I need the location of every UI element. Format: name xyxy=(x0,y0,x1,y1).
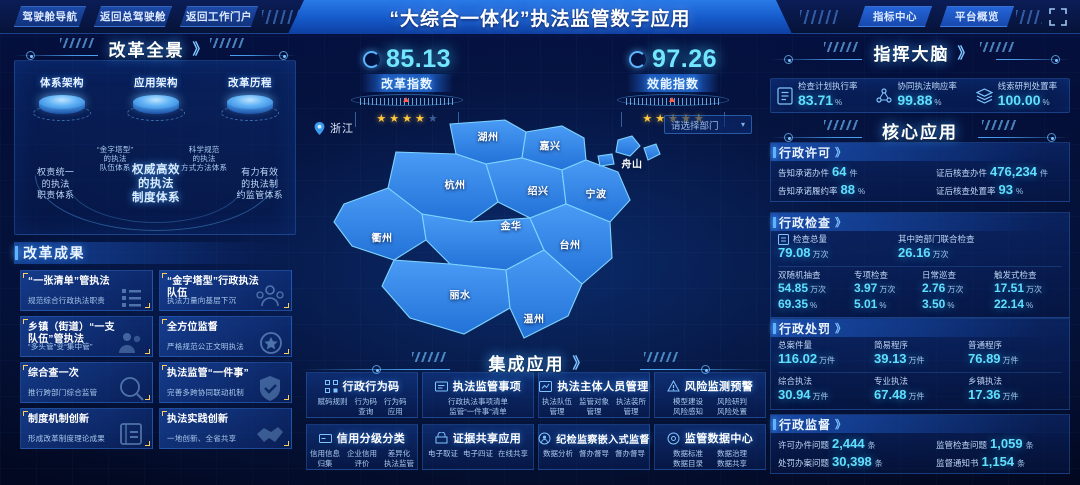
metric-total-cases: 总案件量 116.02万件 xyxy=(778,340,874,369)
app-card-title: 执法主体人员管理 xyxy=(557,378,648,394)
result-card-pyramid-team[interactable]: “金字塔型”行政执法队伍 执法力量向基层下沉 xyxy=(159,270,292,311)
title-rule-right xyxy=(978,137,1070,138)
check-box-icon xyxy=(778,234,789,245)
app-card-head: 行政行为码 xyxy=(307,378,417,394)
app-sub: 督办督导 xyxy=(579,449,609,459)
reform-results-label: 改革成果 xyxy=(23,243,85,263)
architecture-podium-row: 体系架构 应用架构 改革历程 xyxy=(15,75,297,137)
metric-value: 83.71 xyxy=(798,92,833,108)
gauge-icon xyxy=(363,51,380,68)
block-administrative-supervision: 行政监督 》 许可办件问题 2,444 条 监管检查问题 1,059 条 处罚办… xyxy=(770,414,1070,474)
podium-label: 应用架构 xyxy=(114,75,198,90)
podium-disc-icon xyxy=(221,95,279,119)
metric-label: 协同执法响应率 xyxy=(897,81,957,92)
reform-panorama-label: 改革全景 xyxy=(102,36,190,61)
app-card-behavior-code[interactable]: 行政行为码 赋码规则 行为码查询 行为码应用 xyxy=(306,372,418,418)
app-sub: 赋码规则 xyxy=(318,397,348,416)
title-hatch-left xyxy=(60,38,94,48)
cockpit-nav-button[interactable]: 驾驶舱导航 xyxy=(14,6,86,27)
title-dot-left xyxy=(372,365,381,374)
metric-value: 26.16万次 xyxy=(898,245,975,263)
block-arrow[interactable]: 》 xyxy=(835,320,847,336)
doc-list-icon xyxy=(435,380,448,393)
kv-row: 许可办件问题 2,444 条 监管检查问题 1,059 条 xyxy=(778,436,1062,451)
block-title: 行政许可 xyxy=(779,144,831,161)
kv-license-issues: 许可办件问题 2,444 条 xyxy=(778,436,936,451)
list-icon xyxy=(114,278,148,311)
evidence-icon xyxy=(435,432,448,445)
app-card-title: 执法监管事项 xyxy=(453,378,521,394)
city-label-huzhou[interactable]: 湖州 xyxy=(478,129,499,144)
command-brain-metrics: 检查计划执行率 83.71% 协同执法响应率 99.88% xyxy=(770,78,1070,113)
kv-supervision-notices: 监督通知书 1,154 条 xyxy=(936,454,1025,469)
credit-icon xyxy=(319,432,332,445)
block-arrow[interactable]: 》 xyxy=(835,416,847,432)
result-card-sub: 形成改革制度理论成果 xyxy=(28,434,122,443)
app-sub: 在线共享 xyxy=(498,449,528,459)
block-title: 行政监督 xyxy=(779,416,831,433)
command-brain-label: 指挥大脑 xyxy=(867,40,955,65)
city-label-jinhua[interactable]: 金华 xyxy=(501,218,522,233)
app-card-subs: 数据分析 督办督导 督办督导 xyxy=(539,449,649,459)
metric-unit: % xyxy=(1042,98,1049,107)
podium-system-architecture[interactable]: 体系架构 xyxy=(20,75,104,119)
indicator-center-button[interactable]: 指标中心 xyxy=(858,6,932,27)
block-header[interactable]: 行政许可 》 xyxy=(771,143,1069,161)
result-card-township-team[interactable]: 乡镇（街道）“一支队伍”管执法 “多头管”变“集中管” xyxy=(20,316,153,357)
app-card-title: 监管数据中心 xyxy=(685,430,753,446)
app-card-subs: 信用信息归集 企业信用评价 差异化执法监管 xyxy=(307,449,417,468)
block-body: 许可办件问题 2,444 条 监管检查问题 1,059 条 处罚办案问题 30,… xyxy=(771,433,1069,473)
app-card-discipline-supervision[interactable]: 纪检监察嵌入式监督 数据分析 督办督导 督办督导 xyxy=(538,424,650,470)
hologram-core-label: 权威高效 的执法 制度体系 xyxy=(132,163,180,205)
index-base-decor xyxy=(608,93,738,109)
app-card-head: 信用分级分类 xyxy=(307,430,417,446)
metric-unit: % xyxy=(835,98,842,107)
app-card-evidence-sharing[interactable]: 证据共享应用 电子取证 电子四证 在线共享 xyxy=(422,424,534,470)
app-sub: 行为码查询 xyxy=(355,397,378,416)
team-icon xyxy=(114,324,148,357)
app-sub: 行政执法事项清单 xyxy=(427,397,529,407)
kv-post-verification-disposal-rate: 证后核查处置率 93 % xyxy=(936,182,1023,197)
block-administrative-penalty: 行政处罚 》 总案件量 116.02万件 简易程序 39.13万件 普通程序 7… xyxy=(770,318,1070,410)
metric-text: 线索研判处置率 100.00% xyxy=(998,81,1058,110)
inspection-grid-row: 双随机抽查 54.85万次 69.35% 专项检查 3.97万次 5.01% 日… xyxy=(778,270,1062,313)
app-sub: 执法装所管理 xyxy=(616,397,646,416)
metric-random-inspection: 双随机抽查 54.85万次 69.35% xyxy=(778,270,854,313)
layers-icon xyxy=(976,88,993,104)
block-title: 行政检查 xyxy=(779,214,831,231)
integrated-apps-arrow[interactable]: 》 xyxy=(572,352,587,373)
core-apps-title: 核心应用 xyxy=(770,116,1070,144)
penalty-row-2: 综合执法 30.94万件 专业执法 67.48万件 乡镇执法 17.36万件 xyxy=(778,376,1062,405)
metric-triggered-inspection: 触发式检查 17.51万次 22.14% xyxy=(994,270,1042,313)
network-icon xyxy=(876,88,892,104)
kv-post-verification-cases: 证后核查办件 476,234 件 xyxy=(936,164,1048,179)
result-card-title: 综合查一次 xyxy=(28,368,122,380)
app-sub: 模型建设风险感知 xyxy=(673,397,703,416)
result-card-sub: “多头管”变“集中管” xyxy=(28,342,122,351)
app-card-title: 纪检监察嵌入式监督 xyxy=(556,431,650,446)
reform-panorama-title: 改革全景 》 xyxy=(14,34,296,62)
hologram-label-duty: 权责统一 的执法 职责体系 xyxy=(37,167,74,202)
title-hatch-left xyxy=(824,42,858,52)
result-card-sub: 一地创新、全省共享 xyxy=(167,434,261,443)
metric-text: 检查计划执行率 83.71% xyxy=(798,81,858,110)
shield-check-icon xyxy=(253,370,287,403)
gauge-icon xyxy=(629,51,646,68)
kv-inspection-issues: 监管检查问题 1,059 条 xyxy=(936,436,1034,451)
podium-label: 改革历程 xyxy=(208,75,292,90)
city-label-wenzhou[interactable]: 温州 xyxy=(524,311,545,326)
warning-icon xyxy=(667,380,680,393)
efficiency-index-label: 效能指数 xyxy=(627,74,719,92)
app-card-risk-warning[interactable]: 风险监测预警 模型建设风险感知 风险研判风险处置 xyxy=(654,372,766,418)
app-card-credit-classification[interactable]: 信用分级分类 信用信息归集 企业信用评价 差异化执法监管 xyxy=(306,424,418,470)
city-label-jiaxing[interactable]: 嘉兴 xyxy=(540,138,561,153)
metric-inspection-plan-rate: 检查计划执行率 83.71% xyxy=(771,81,870,110)
star-badge-icon xyxy=(253,324,287,357)
metric-simple-procedure: 简易程序 39.13万件 xyxy=(874,340,968,369)
metric-value: 79.08万次 xyxy=(778,245,898,263)
result-card-title: “一张清单”管执法 xyxy=(28,276,122,288)
metric-label: 检查计划执行率 xyxy=(798,81,858,92)
title-dot-right xyxy=(701,365,710,374)
app-sub: 监管“一件事”清单 xyxy=(427,407,529,417)
title-dot-right xyxy=(1051,55,1060,64)
block-body: 总案件量 116.02万件 简易程序 39.13万件 普通程序 76.89万件 … xyxy=(771,337,1069,409)
metric-general-procedure: 普通程序 76.89万件 xyxy=(968,340,1019,369)
app-sub: 信用信息归集 xyxy=(310,449,340,468)
app-card-subs: 电子取证 电子四证 在线共享 xyxy=(423,449,533,459)
block-administrative-license: 行政许可 》 告知承诺办件 64 件 证后核查办件 476,234 件 告知承诺… xyxy=(770,142,1070,202)
index-base-decor xyxy=(342,93,472,109)
kv-row: 告知承诺办件 64 件 证后核查办件 476,234 件 xyxy=(778,164,1062,179)
app-sub: 行为码应用 xyxy=(384,397,407,416)
podium-reform-history[interactable]: 改革历程 xyxy=(208,75,292,119)
kv-penalty-issues: 处罚办案问题 30,398 条 xyxy=(778,454,936,469)
result-card-sub: 严格规范公正文明执法 xyxy=(167,342,261,351)
block-title: 行政处罚 xyxy=(779,320,831,337)
metric-value: 99.88 xyxy=(897,92,932,108)
block-header[interactable]: 行政监督 》 xyxy=(771,415,1069,433)
document-icon xyxy=(777,87,793,105)
app-card-subs: 行政执法事项清单 监管“一件事”清单 xyxy=(423,397,533,416)
inspection-top-row: 检查总量 79.08万次 其中跨部门联合检查 26.16万次 xyxy=(778,234,1062,263)
metric-collaborative-response-rate: 协同执法响应率 99.88% xyxy=(870,81,969,110)
chart-box-icon xyxy=(539,380,552,393)
podium-application-architecture[interactable]: 应用架构 xyxy=(114,75,198,119)
result-card-sub: 推行跨部门综合监管 xyxy=(28,388,122,397)
integrated-apps-label: 集成应用 xyxy=(482,350,570,375)
integrated-apps-title: 集成应用 》 xyxy=(300,348,770,376)
title-hatch-right xyxy=(644,352,678,362)
hologram-label-restraint: 有力有效 的执法制 约监管体系 xyxy=(236,167,283,202)
block-body: 告知承诺办件 64 件 证后核查办件 476,234 件 告知承诺履约率 88 … xyxy=(771,161,1069,201)
app-card-head: 风险监测预警 xyxy=(655,378,765,394)
app-card-supervision-matters[interactable]: 执法监管事项 行政执法事项清单 监管“一件事”清单 xyxy=(422,372,534,418)
block-arrow[interactable]: 》 xyxy=(835,214,847,230)
page-title: “大综合一体化”执法监管数字应用 xyxy=(288,0,792,34)
city-label-shaoxing[interactable]: 绍兴 xyxy=(528,183,549,198)
title-dot-left xyxy=(26,51,35,60)
app-sub: 企业信用评价 xyxy=(347,449,377,468)
command-brain-title: 指挥大脑 》 xyxy=(770,38,1070,66)
kv-commitment-fulfillment-rate: 告知承诺履约率 88 % xyxy=(778,182,936,197)
metric-special-inspection: 专项检查 3.97万次 5.01% xyxy=(854,270,922,313)
result-card-title: 执法监管“一件事” xyxy=(167,368,261,380)
block-administrative-inspection: 行政检查 》 检查总量 xyxy=(770,212,1070,318)
penalty-row-1: 总案件量 116.02万件 简易程序 39.13万件 普通程序 76.89万件 xyxy=(778,340,1062,369)
kv-notify-commitment-cases: 告知承诺办件 64 件 xyxy=(778,164,936,179)
supervise-icon xyxy=(538,432,551,445)
metric-professional-enforcement: 专业执法 67.48万件 xyxy=(874,376,968,405)
title-hatch-left xyxy=(412,352,446,362)
app-sub: 数据治理数据共享 xyxy=(717,449,747,468)
city-label-quzhou[interactable]: 衢州 xyxy=(372,230,393,245)
database-icon xyxy=(667,432,680,445)
block-arrow[interactable]: 》 xyxy=(835,144,847,160)
metric-label: 线索研判处置率 xyxy=(998,81,1058,92)
app-card-head: 执法主体人员管理 xyxy=(539,378,649,394)
metric-text: 协同执法响应率 99.88% xyxy=(897,81,957,110)
podium-disc-icon xyxy=(33,95,91,119)
back-work-portal-button[interactable]: 返回工作门户 xyxy=(180,6,258,27)
hologram-label-pyramid: “金字塔型” 的执法 队伍体系 xyxy=(97,145,133,172)
reform-results-header: 改革成果 xyxy=(14,242,296,264)
reform-index-label: 改革指数 xyxy=(361,74,453,92)
app-card-head: 证据共享应用 xyxy=(423,430,533,446)
app-card-subs: 模型建设风险感知 风险研判风险处置 xyxy=(655,397,765,416)
hologram-label-standard: 科学规范 的执法 方式方法体系 xyxy=(181,145,227,172)
city-label-hangzhou[interactable]: 杭州 xyxy=(445,177,466,192)
result-card-one-matter[interactable]: 执法监管“一件事” 完善多跨协同联动机制 xyxy=(159,362,292,403)
header-bar: 驾驶舱导航 返回总驾驶舱 返回工作门户 “大综合一体化”执法监管数字应用 指标中… xyxy=(0,0,1080,34)
app-card-head: 执法监管事项 xyxy=(423,378,533,394)
app-card-data-center[interactable]: 监管数据中心 数据标准数据目录 数据治理数据共享 xyxy=(654,424,766,470)
platform-overview-button[interactable]: 平台概览 xyxy=(940,6,1014,27)
title-dot-right xyxy=(1047,133,1056,142)
title-hatch-right xyxy=(982,120,1016,130)
handshake-icon xyxy=(253,416,287,449)
app-sub: 监管对象管理 xyxy=(579,397,609,416)
efficiency-index-value: 97.26 xyxy=(652,45,717,74)
zhejiang-map[interactable]: 湖州 嘉兴 舟山 杭州 绍兴 宁波 金华 衢州 台州 丽水 温州 xyxy=(300,118,770,346)
block-body: 检查总量 79.08万次 其中跨部门联合检查 26.16万次 双随机抽查 xyxy=(771,231,1069,317)
magnifier-icon xyxy=(114,370,148,403)
people-icon xyxy=(253,278,287,311)
reform-hologram-diagram: “金字塔型” 的执法 队伍体系 科学规范 的执法 方式方法体系 权责统一 的执法… xyxy=(15,137,297,235)
app-sub: 电子四证 xyxy=(463,449,493,459)
reform-panorama-panel: 体系架构 应用架构 改革历程 “金字塔型” xyxy=(14,60,296,235)
block-header[interactable]: 行政检查 》 xyxy=(771,213,1069,231)
podium-label: 体系架构 xyxy=(20,75,104,90)
reform-index-block: 85.13 改革指数 ★ ★ ★ ★ ★ xyxy=(332,44,482,127)
metric-routine-patrol: 日常巡查 2.76万次 3.50% xyxy=(922,270,994,313)
city-label-zhoushan[interactable]: 舟山 xyxy=(622,156,643,171)
command-brain-arrow[interactable]: 》 xyxy=(957,42,972,63)
podium-disc-icon xyxy=(127,95,185,119)
title-hatch-right xyxy=(210,38,244,48)
book-icon xyxy=(114,416,148,449)
result-card-sub: 执法力量向基层下沉 xyxy=(167,296,261,305)
metric-total-inspections: 检查总量 79.08万次 xyxy=(778,234,898,263)
app-sub: 数据分析 xyxy=(543,449,573,459)
result-card-title: 制度机制创新 xyxy=(28,414,122,426)
result-card-practice-innovation[interactable]: 执法实践创新 一地创新、全省共享 xyxy=(159,408,292,449)
app-card-title: 信用分级分类 xyxy=(337,430,405,446)
title-hatch-right xyxy=(980,42,1014,52)
app-card-title: 证据共享应用 xyxy=(453,430,521,446)
city-label-taizhou[interactable]: 台州 xyxy=(560,237,581,252)
metric-value: 100.00 xyxy=(998,92,1041,108)
title-dot-left xyxy=(784,133,793,142)
title-dot-left xyxy=(784,55,793,64)
reform-panorama-arrow[interactable]: 》 xyxy=(192,38,207,59)
metric-clue-disposal-rate: 线索研判处置率 100.00% xyxy=(970,81,1069,110)
app-card-title: 风险监测预警 xyxy=(685,378,753,394)
core-apps-label: 核心应用 xyxy=(876,118,964,143)
title-dot-right xyxy=(279,51,288,60)
app-card-subs: 赋码规则 行为码查询 行为码应用 xyxy=(307,397,417,416)
metric-joint-inspections: 其中跨部门联合检查 26.16万次 xyxy=(898,234,975,263)
title-hatch-left xyxy=(824,120,858,130)
kv-row: 处罚办案问题 30,398 条 监督通知书 1,154 条 xyxy=(778,454,1062,469)
app-sub: 电子取证 xyxy=(428,449,458,459)
app-sub: 督办督导 xyxy=(615,449,645,459)
metric-unit: % xyxy=(934,98,941,107)
reform-index-value-row: 85.13 xyxy=(332,44,482,74)
result-card-title: 全方位监督 xyxy=(167,322,261,334)
app-card-head: 纪检监察嵌入式监督 xyxy=(539,430,649,446)
back-main-cockpit-button[interactable]: 返回总驾驶舱 xyxy=(94,6,172,27)
city-label-ningbo[interactable]: 宁波 xyxy=(586,186,607,201)
metric-township-enforcement: 乡镇执法 17.36万件 xyxy=(968,376,1019,405)
result-card-title: 执法实践创新 xyxy=(167,414,261,426)
result-card-full-supervision[interactable]: 全方位监督 严格规范公正文明执法 xyxy=(159,316,292,357)
result-card-sub: 完善多跨协同联动机制 xyxy=(167,388,261,397)
reform-index-value: 85.13 xyxy=(386,45,451,74)
kv-row: 告知承诺履约率 88 % 证后核查处置率 93 % xyxy=(778,182,1062,197)
result-card-system-innovation[interactable]: 制度机制创新 形成改革制度理论成果 xyxy=(20,408,153,449)
app-sub: 执法队伍管理 xyxy=(542,397,572,416)
efficiency-index-value-row: 97.26 xyxy=(598,44,748,74)
result-card-sub: 规范综合行政执法职责 xyxy=(28,296,122,305)
block-header[interactable]: 行政处罚 》 xyxy=(771,319,1069,337)
qr-code-icon xyxy=(325,380,338,393)
metric-comprehensive-enforcement: 综合执法 30.94万件 xyxy=(778,376,874,405)
app-sub: 数据标准数据目录 xyxy=(673,449,703,468)
fullscreen-icon[interactable] xyxy=(1048,7,1068,27)
app-sub: 风险研判风险处置 xyxy=(717,397,747,416)
result-card-one-list[interactable]: “一张清单”管执法 规范综合行政执法职责 xyxy=(20,270,153,311)
city-label-lishui[interactable]: 丽水 xyxy=(450,287,471,302)
dashboard-root: 驾驶舱导航 返回总驾驶舱 返回工作门户 “大综合一体化”执法监管数字应用 指标中… xyxy=(0,0,1080,485)
app-card-subs: 执法队伍管理 监管对象管理 执法装所管理 xyxy=(539,397,649,416)
app-sub: 差异化执法监管 xyxy=(384,449,414,468)
app-card-head: 监管数据中心 xyxy=(655,430,765,446)
app-card-subs: 数据标准数据目录 数据治理数据共享 xyxy=(655,449,765,468)
app-card-subject-personnel[interactable]: 执法主体人员管理 执法队伍管理 监管对象管理 执法装所管理 xyxy=(538,372,650,418)
result-card-one-inspection[interactable]: 综合查一次 推行跨部门综合监管 xyxy=(20,362,153,403)
app-card-title: 行政行为码 xyxy=(343,378,400,394)
